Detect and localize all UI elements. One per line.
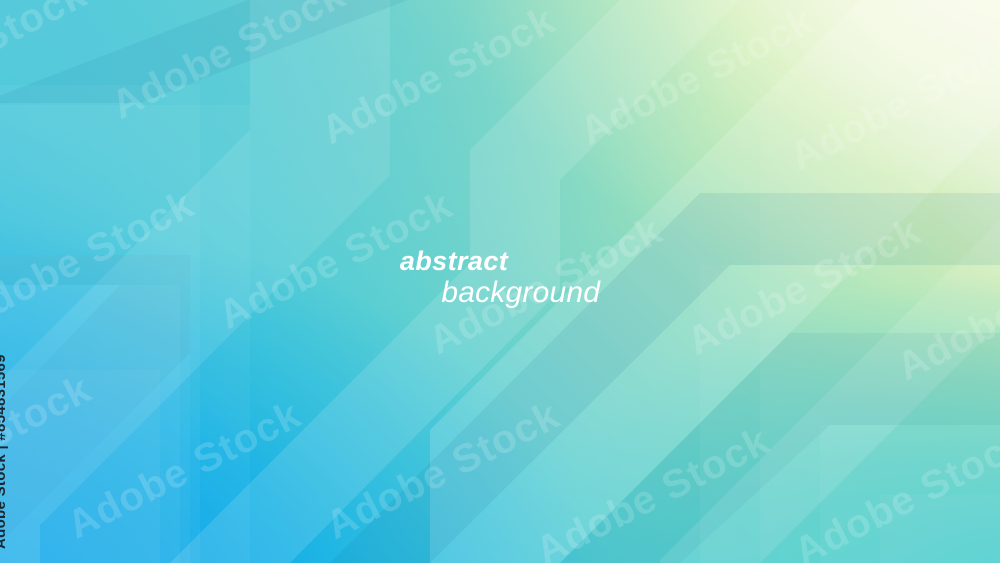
band-svg xyxy=(0,0,1000,563)
band-dark-2 xyxy=(0,255,190,563)
edge-left-285 xyxy=(0,285,180,563)
watermark-row: Adobe StockAdobe StockAdobe StockAdobe S… xyxy=(0,0,1000,563)
band-dark-1 xyxy=(330,193,1000,563)
watermark-row: Adobe StockAdobe StockAdobe StockAdobe S… xyxy=(0,0,1000,554)
adobe-stock-watermark: Adobe StockAdobe StockAdobe StockAdobe S… xyxy=(0,0,1000,563)
edge-left-370 xyxy=(0,370,160,563)
watermark-text: Adobe Stock xyxy=(302,360,583,563)
stock-credit-label: Adobe Stock | #854831569 xyxy=(0,354,9,549)
band-light-3 xyxy=(430,0,1000,563)
watermark-text: Adobe Stock xyxy=(771,386,1000,563)
diagonal-band-overlay xyxy=(0,0,1000,563)
band-light-2 xyxy=(0,0,390,563)
watermark-text: Adobe Stock xyxy=(405,175,686,396)
watermark-row: Adobe StockAdobe StockAdobe StockAdobe S… xyxy=(0,0,1000,449)
band-light-1 xyxy=(170,0,760,563)
watermark-text: Adobe Stock xyxy=(88,0,369,160)
watermark-text: Adobe Stock xyxy=(0,0,111,160)
watermark-row: Adobe StockAdobe StockAdobe StockAdobe S… xyxy=(0,0,1000,563)
watermark-text: Adobe Stock xyxy=(663,176,944,397)
edge-left-85 xyxy=(0,85,200,563)
band-dark-4 xyxy=(0,0,460,103)
edge-right-495 xyxy=(880,495,1000,563)
watermark-text: Adobe Stock xyxy=(298,0,579,186)
gradient-base-diagonal xyxy=(0,0,1000,563)
watermark-text: Adobe Stock xyxy=(0,149,218,370)
edge-right-425 xyxy=(820,425,1000,563)
edge-right-135 xyxy=(760,135,1000,563)
gradient-blue-bottom-left xyxy=(0,0,1000,563)
edge-left-255 xyxy=(0,255,190,563)
watermark-row: Adobe StockAdobe StockAdobe StockAdobe S… xyxy=(0,263,1000,563)
gradient-cyan-top-left xyxy=(0,0,1000,563)
headline-secondary-text: background xyxy=(400,278,600,308)
band-light-4 xyxy=(660,200,1000,563)
gradient-pale-top-right xyxy=(0,0,1000,563)
band-dark-3 xyxy=(560,333,1000,563)
watermark-text: Adobe Stock xyxy=(0,123,8,344)
watermark-text: Adobe Stock xyxy=(556,0,837,187)
watermark-row: Adobe StockAdobe StockAdobe StockAdobe S… xyxy=(0,0,1000,344)
watermark-row: Adobe StockAdobe StockAdobe StockAdobe S… xyxy=(4,473,1000,563)
watermark-text: Adobe Stock xyxy=(195,150,476,371)
watermark-text: Adobe Stock xyxy=(0,544,222,563)
watermark-text: Adobe Stock xyxy=(873,201,1000,422)
band-group xyxy=(0,0,1000,563)
watermark-text: Adobe Stock xyxy=(918,0,1000,3)
stock-photo-canvas: Adobe StockAdobe StockAdobe StockAdobe S… xyxy=(0,0,1000,563)
watermark-row: Adobe StockAdobe StockAdobe StockAdobe S… xyxy=(0,0,1000,563)
headline-block: abstract background xyxy=(0,248,1000,308)
horizontal-edge-group xyxy=(0,85,1000,563)
edge-left-105 xyxy=(0,105,250,563)
watermark-text: Adobe Stock xyxy=(512,385,793,563)
watermark-row: Adobe StockAdobe StockAdobe StockAdobe S… xyxy=(0,368,1000,563)
watermark-text: Adobe Stock xyxy=(0,334,115,555)
headline-inner: abstract background xyxy=(400,248,600,308)
watermark-row: Adobe StockAdobe StockAdobe StockAdobe S… xyxy=(0,157,1000,563)
edge-right-265 xyxy=(700,265,1000,563)
watermark-text: Adobe Stock xyxy=(659,0,940,2)
watermark-text: Adobe Stock xyxy=(980,411,1000,563)
watermark-row: Adobe StockAdobe StockAdobe StockAdobe S… xyxy=(0,52,1000,563)
headline-primary-text: abstract xyxy=(400,248,600,275)
watermark-text: Adobe Stock xyxy=(766,0,1000,212)
gradient-turquoise-bottom-right xyxy=(0,0,1000,563)
watermark-text: Adobe Stock xyxy=(44,359,325,563)
